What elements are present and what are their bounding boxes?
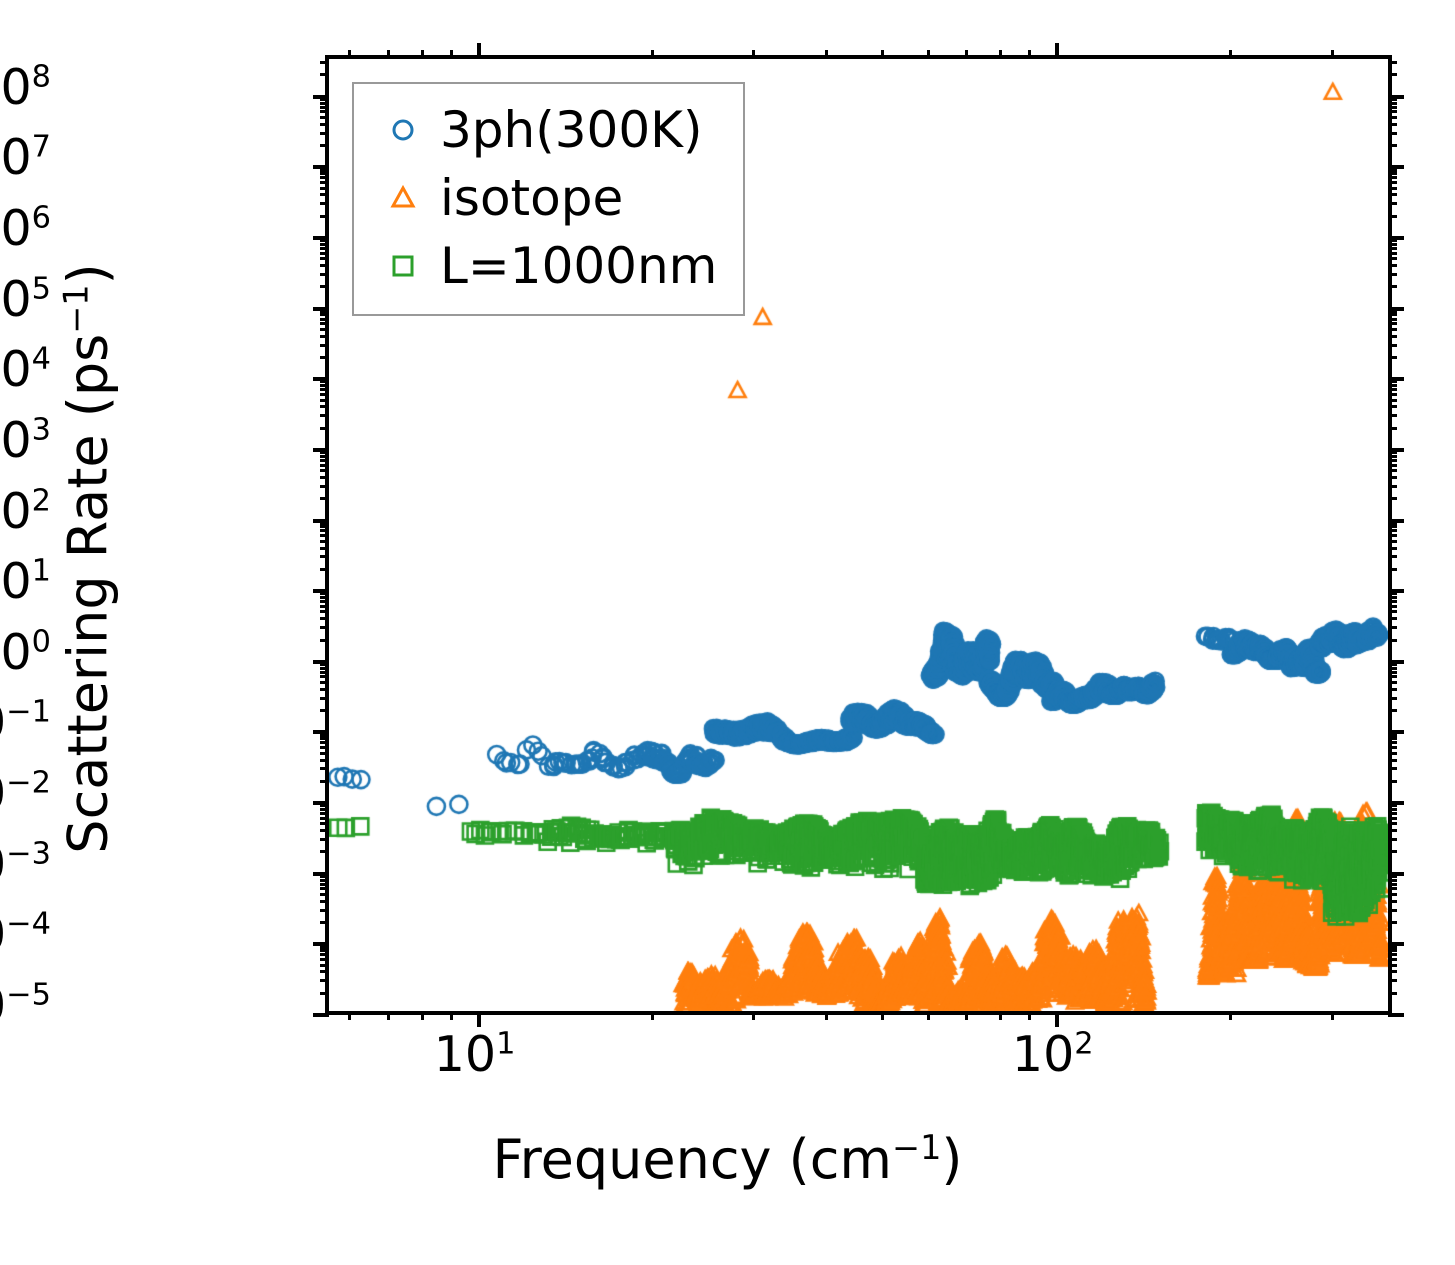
x-tick bbox=[348, 1011, 351, 1020]
y-tick bbox=[320, 335, 329, 338]
y-tick bbox=[1388, 767, 1397, 770]
y-tick bbox=[1388, 979, 1397, 982]
legend-item-length[interactable]: L=1000nm bbox=[372, 232, 717, 300]
x-tick bbox=[450, 1011, 453, 1020]
y-tick bbox=[320, 529, 329, 532]
y-tick bbox=[1388, 992, 1397, 995]
y-tick bbox=[1388, 132, 1397, 135]
y-tick-label: 10−1 bbox=[0, 698, 51, 747]
x-tick bbox=[1028, 1011, 1031, 1020]
y-tick bbox=[320, 596, 329, 599]
y-tick bbox=[1388, 322, 1397, 325]
y-tick bbox=[320, 746, 329, 749]
y-tick bbox=[1388, 476, 1397, 479]
y-tick bbox=[320, 921, 329, 924]
y-tick bbox=[1388, 448, 1404, 452]
y-tick bbox=[320, 759, 329, 762]
legend-label-3ph: 3ph(300K) bbox=[434, 101, 702, 159]
y-tick bbox=[320, 73, 329, 76]
y-tick bbox=[313, 519, 329, 523]
y-tick bbox=[320, 568, 329, 571]
y-tick bbox=[313, 165, 329, 169]
y-tick bbox=[1388, 110, 1397, 113]
y-tick bbox=[1388, 202, 1397, 205]
y-tick bbox=[1388, 942, 1404, 946]
y-tick bbox=[320, 555, 329, 558]
y-tick bbox=[1388, 808, 1397, 811]
y-tick bbox=[320, 344, 329, 347]
y-tick bbox=[320, 688, 329, 691]
x-tick bbox=[421, 50, 424, 59]
x-tick bbox=[825, 1011, 828, 1020]
legend-item-isotope[interactable]: isotope bbox=[372, 164, 717, 232]
y-tick bbox=[320, 132, 329, 135]
y-tick-label: 10−3 bbox=[0, 840, 51, 889]
y-tick bbox=[320, 181, 329, 184]
y-tick bbox=[320, 709, 329, 712]
y-tick bbox=[320, 264, 329, 267]
y-tick bbox=[1388, 273, 1397, 276]
y-tick bbox=[320, 252, 329, 255]
figure: Scattering Rate (ps−1) Frequency (cm−1) … bbox=[0, 0, 1455, 1265]
x-tick bbox=[752, 1011, 755, 1020]
y-tick bbox=[1388, 741, 1397, 744]
y-tick bbox=[1388, 822, 1397, 825]
y-tick bbox=[320, 285, 329, 288]
y-tick bbox=[1388, 257, 1397, 260]
y-tick bbox=[1388, 759, 1397, 762]
y-tick bbox=[320, 455, 329, 458]
y-tick bbox=[1388, 887, 1397, 890]
y-tick bbox=[1388, 181, 1397, 184]
x-tick bbox=[1229, 50, 1232, 59]
y-tick bbox=[1388, 681, 1397, 684]
y-tick bbox=[320, 808, 329, 811]
y-tick bbox=[320, 883, 329, 886]
y-tick bbox=[1388, 617, 1397, 620]
y-tick bbox=[313, 801, 329, 805]
y-tick bbox=[1388, 525, 1397, 528]
y-tick bbox=[1388, 879, 1397, 882]
y-tick bbox=[1388, 455, 1397, 458]
y-tick bbox=[320, 879, 329, 882]
y-tick bbox=[1388, 626, 1397, 629]
y-axis-title: Scattering Rate (ps−1) bbox=[57, 79, 120, 1039]
y-tick bbox=[320, 737, 329, 740]
x-tick bbox=[927, 1011, 930, 1020]
y-tick bbox=[1388, 921, 1397, 924]
y-tick bbox=[320, 215, 329, 218]
y-tick bbox=[320, 600, 329, 603]
y-tick bbox=[320, 780, 329, 783]
x-tick bbox=[348, 50, 351, 59]
y-tick bbox=[1388, 414, 1397, 417]
y-tick bbox=[320, 273, 329, 276]
y-tick bbox=[1388, 812, 1397, 815]
y-tick bbox=[320, 328, 329, 331]
y-tick bbox=[320, 534, 329, 537]
y-tick bbox=[1388, 399, 1397, 402]
y-tick-label: 10−5 bbox=[0, 981, 51, 1030]
y-tick bbox=[1388, 529, 1397, 532]
y-tick bbox=[1388, 752, 1397, 755]
x-tick bbox=[999, 50, 1002, 59]
y-tick bbox=[1388, 639, 1397, 642]
y-tick bbox=[1388, 949, 1397, 952]
y-tick bbox=[320, 427, 329, 430]
y-tick bbox=[1388, 660, 1404, 664]
y-tick bbox=[1388, 328, 1397, 331]
y-tick bbox=[1388, 61, 1397, 64]
y-tick bbox=[1388, 307, 1404, 311]
y-tick bbox=[1388, 264, 1397, 267]
y-tick bbox=[1388, 1013, 1404, 1017]
legend-label-isotope: isotope bbox=[434, 169, 623, 227]
y-tick bbox=[320, 525, 329, 528]
x-tick bbox=[1055, 1011, 1059, 1027]
y-tick bbox=[1388, 102, 1397, 105]
y-tick bbox=[320, 970, 329, 973]
y-tick bbox=[313, 95, 329, 99]
y-tick bbox=[1388, 883, 1397, 886]
y-tick bbox=[320, 464, 329, 467]
x-tick bbox=[881, 1011, 884, 1020]
y-tick bbox=[1388, 388, 1397, 391]
y-tick bbox=[1388, 459, 1397, 462]
y-tick bbox=[1388, 176, 1397, 179]
y-tick bbox=[1388, 243, 1397, 246]
y-tick bbox=[320, 61, 329, 64]
y-tick-label: 105 bbox=[0, 275, 51, 324]
y-tick bbox=[320, 626, 329, 629]
y-tick-label: 103 bbox=[0, 416, 51, 465]
y-tick bbox=[1388, 850, 1397, 853]
y-tick bbox=[1388, 73, 1397, 76]
y-tick bbox=[1388, 252, 1397, 255]
x-tick bbox=[387, 50, 390, 59]
y-tick bbox=[320, 414, 329, 417]
y-tick bbox=[1388, 780, 1397, 783]
y-tick bbox=[1388, 709, 1397, 712]
y-tick bbox=[320, 313, 329, 316]
y-tick bbox=[1388, 737, 1397, 740]
y-tick bbox=[320, 817, 329, 820]
y-tick bbox=[1388, 318, 1397, 321]
y-tick bbox=[320, 176, 329, 179]
y-tick bbox=[320, 697, 329, 700]
y-tick bbox=[1388, 893, 1397, 896]
y-tick bbox=[1388, 600, 1397, 603]
y-tick bbox=[320, 322, 329, 325]
x-tick-label: 102 bbox=[1012, 1030, 1094, 1079]
y-tick bbox=[320, 405, 329, 408]
y-tick-label: 102 bbox=[0, 487, 51, 536]
y-tick bbox=[320, 893, 329, 896]
y-tick bbox=[1388, 970, 1397, 973]
y-tick bbox=[320, 399, 329, 402]
y-tick bbox=[1388, 964, 1397, 967]
x-tick bbox=[450, 50, 453, 59]
y-tick bbox=[1388, 95, 1404, 99]
y-tick bbox=[320, 497, 329, 500]
y-tick bbox=[320, 671, 329, 674]
y-tick bbox=[320, 172, 329, 175]
x-tick bbox=[965, 1011, 968, 1020]
x-tick bbox=[1229, 1011, 1232, 1020]
y-tick bbox=[320, 675, 329, 678]
y-tick bbox=[320, 812, 329, 815]
y-tick bbox=[313, 1013, 329, 1017]
x-tick bbox=[927, 50, 930, 59]
y-tick bbox=[1388, 172, 1397, 175]
y-tick bbox=[320, 187, 329, 190]
y-tick bbox=[320, 485, 329, 488]
y-tick bbox=[1388, 247, 1397, 250]
y-tick bbox=[1388, 464, 1397, 467]
y-tick-label: 104 bbox=[0, 345, 51, 394]
y-tick bbox=[320, 979, 329, 982]
y-tick bbox=[320, 909, 329, 912]
y-tick bbox=[1388, 116, 1397, 119]
y-tick bbox=[313, 236, 329, 240]
x-tick bbox=[1331, 1011, 1334, 1020]
y-tick bbox=[320, 667, 329, 670]
y-tick bbox=[320, 829, 329, 832]
y-tick bbox=[1388, 215, 1397, 218]
y-tick bbox=[320, 247, 329, 250]
y-tick bbox=[1388, 123, 1397, 126]
x-tick bbox=[881, 50, 884, 59]
y-tick bbox=[320, 106, 329, 109]
y-tick bbox=[320, 610, 329, 613]
x-tick bbox=[421, 1011, 424, 1020]
legend-label-length: L=1000nm bbox=[434, 237, 717, 295]
y-tick bbox=[320, 838, 329, 841]
y-tick bbox=[320, 393, 329, 396]
y-tick bbox=[320, 388, 329, 391]
y-tick bbox=[1388, 384, 1397, 387]
y-tick bbox=[320, 257, 329, 260]
x-tick bbox=[1028, 50, 1031, 59]
y-tick bbox=[1388, 568, 1397, 571]
x-tick bbox=[1055, 43, 1059, 59]
y-tick bbox=[1388, 872, 1404, 876]
y-tick bbox=[1388, 909, 1397, 912]
y-tick bbox=[1388, 589, 1404, 593]
x-tick bbox=[752, 50, 755, 59]
y-tick bbox=[1388, 540, 1397, 543]
y-tick-label: 10−2 bbox=[0, 769, 51, 818]
x-tick bbox=[825, 50, 828, 59]
y-tick bbox=[313, 589, 329, 593]
y-tick bbox=[320, 116, 329, 119]
y-tick bbox=[1388, 335, 1397, 338]
y-tick bbox=[1388, 377, 1404, 381]
y-tick bbox=[313, 307, 329, 311]
y-tick bbox=[1388, 746, 1397, 749]
y-tick bbox=[313, 660, 329, 664]
y-tick bbox=[320, 605, 329, 608]
y-tick bbox=[1388, 469, 1397, 472]
y-tick bbox=[1388, 313, 1397, 316]
y-tick-label: 101 bbox=[0, 557, 51, 606]
x-tick bbox=[651, 1011, 654, 1020]
y-tick bbox=[1388, 900, 1397, 903]
y-tick bbox=[313, 448, 329, 452]
y-tick bbox=[313, 942, 329, 946]
y-tick bbox=[1388, 497, 1397, 500]
y-tick bbox=[1388, 675, 1397, 678]
circle-open-icon bbox=[372, 115, 434, 145]
y-tick bbox=[1388, 555, 1397, 558]
y-tick bbox=[320, 617, 329, 620]
y-tick bbox=[1388, 605, 1397, 608]
y-tick bbox=[320, 469, 329, 472]
y-tick bbox=[320, 953, 329, 956]
y-tick bbox=[320, 356, 329, 359]
y-tick-label: 100 bbox=[0, 628, 51, 677]
y-tick-label: 107 bbox=[0, 133, 51, 182]
x-tick bbox=[965, 50, 968, 59]
y-tick bbox=[320, 992, 329, 995]
x-tick bbox=[1331, 50, 1334, 59]
y-tick-label: 108 bbox=[0, 63, 51, 112]
y-tick bbox=[1388, 817, 1397, 820]
y-tick bbox=[1388, 106, 1397, 109]
y-tick bbox=[320, 202, 329, 205]
y-tick bbox=[313, 872, 329, 876]
y-tick bbox=[320, 964, 329, 967]
y-tick bbox=[1388, 547, 1397, 550]
y-tick bbox=[313, 377, 329, 381]
triangle-open-icon bbox=[372, 183, 434, 213]
y-tick bbox=[1388, 236, 1404, 240]
y-tick bbox=[1388, 596, 1397, 599]
y-tick bbox=[320, 144, 329, 147]
legend-item-3ph[interactable]: 3ph(300K) bbox=[372, 96, 717, 164]
y-tick bbox=[1388, 801, 1404, 805]
y-tick bbox=[320, 110, 329, 113]
y-tick bbox=[320, 384, 329, 387]
y-tick bbox=[320, 958, 329, 961]
y-tick bbox=[320, 741, 329, 744]
y-tick bbox=[1388, 519, 1404, 523]
x-tick bbox=[477, 43, 481, 59]
y-tick bbox=[1388, 534, 1397, 537]
y-tick bbox=[320, 850, 329, 853]
y-tick bbox=[1388, 193, 1397, 196]
y-tick bbox=[1388, 356, 1397, 359]
y-tick bbox=[320, 547, 329, 550]
y-tick bbox=[320, 767, 329, 770]
y-tick bbox=[320, 123, 329, 126]
y-tick bbox=[1388, 285, 1397, 288]
x-tick-label: 101 bbox=[434, 1030, 516, 1079]
y-tick bbox=[1388, 671, 1397, 674]
x-tick bbox=[999, 1011, 1002, 1020]
y-tick bbox=[1388, 427, 1397, 430]
x-tick bbox=[651, 50, 654, 59]
y-tick-label: 10−4 bbox=[0, 910, 51, 959]
y-tick bbox=[1388, 730, 1404, 734]
legend: 3ph(300K) isotope L=1000nm bbox=[352, 82, 745, 316]
y-tick bbox=[1388, 953, 1397, 956]
y-tick bbox=[1388, 697, 1397, 700]
y-tick bbox=[1388, 838, 1397, 841]
y-tick bbox=[320, 193, 329, 196]
y-tick bbox=[320, 459, 329, 462]
y-tick bbox=[1388, 958, 1397, 961]
y-tick bbox=[1388, 344, 1397, 347]
y-tick bbox=[320, 639, 329, 642]
x-tick bbox=[477, 1011, 481, 1027]
y-tick bbox=[1388, 144, 1397, 147]
y-tick bbox=[320, 887, 329, 890]
y-tick bbox=[313, 730, 329, 734]
y-tick bbox=[320, 949, 329, 952]
x-tick bbox=[387, 1011, 390, 1020]
y-tick bbox=[320, 752, 329, 755]
y-tick bbox=[320, 900, 329, 903]
x-axis-title: Frequency (cm−1) bbox=[0, 1128, 1455, 1191]
y-tick bbox=[320, 102, 329, 105]
y-tick bbox=[1388, 688, 1397, 691]
y-tick bbox=[1388, 187, 1397, 190]
y-tick bbox=[1388, 610, 1397, 613]
y-tick bbox=[320, 318, 329, 321]
y-tick bbox=[1388, 667, 1397, 670]
y-tick bbox=[320, 681, 329, 684]
y-tick bbox=[320, 476, 329, 479]
y-tick bbox=[1388, 405, 1397, 408]
y-tick bbox=[320, 540, 329, 543]
y-tick bbox=[1388, 829, 1397, 832]
y-tick bbox=[320, 822, 329, 825]
square-open-icon bbox=[372, 251, 434, 281]
y-tick bbox=[320, 243, 329, 246]
y-tick-label: 106 bbox=[0, 204, 51, 253]
y-tick bbox=[1388, 165, 1404, 169]
y-tick bbox=[1388, 485, 1397, 488]
y-tick bbox=[1388, 393, 1397, 396]
